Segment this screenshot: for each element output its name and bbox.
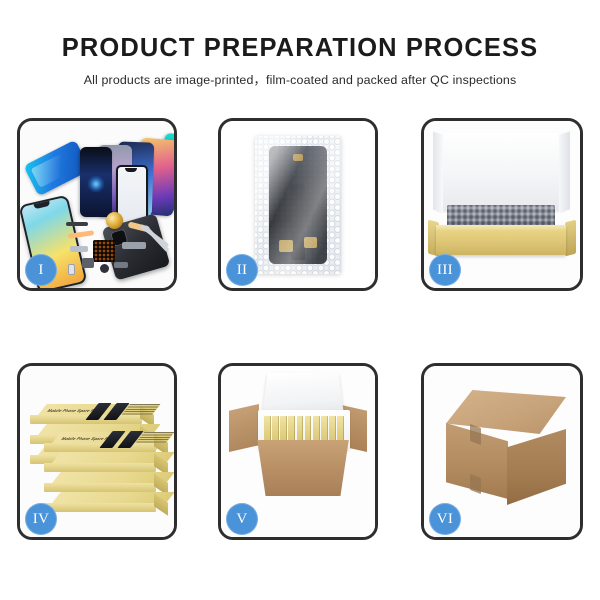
inner-box-slot [288,416,295,444]
inner-box-slot [297,416,304,444]
step-badge-1: I [25,254,57,286]
stacked-box [44,472,170,492]
bracket-part [114,262,128,268]
step-panel-2: II [218,118,378,291]
inner-box-slot [321,416,328,444]
styrofoam-lid [262,373,344,414]
step-badge-6: VI [429,503,461,535]
inner-box-slot [305,416,312,444]
step-badge-3: III [429,254,461,286]
step-badge-2: II [226,254,258,286]
inner-box-slot [329,416,336,444]
inner-box-slot [272,416,279,444]
inner-box-slot [264,416,271,444]
box-flap-right [565,220,576,257]
step-badge-4: IV [25,503,57,535]
step-badge-5: V [226,503,258,535]
camera-lens-part [100,264,109,273]
step-panel-6: VI [421,363,583,540]
small-module [82,258,94,268]
kraft-inner-box [436,225,566,255]
flex-cable-4 [70,246,88,252]
step-panel-4: Mobile Phone Spare Parts Mobile Phone Sp… [17,363,177,540]
yellow-boxes-inside [264,416,344,444]
stacked-box [44,492,170,512]
page-subtitle: All products are image-printed，film-coat… [0,74,600,86]
stacked-box [44,452,170,472]
inner-box-slot [313,416,320,444]
step-panel-3: III [421,118,583,291]
box-print-textblock [136,432,174,443]
stacked-box: Mobile Phone Spare Parts [44,432,170,452]
box-print-textblock [122,404,161,415]
tweezers-icon [132,242,172,282]
step-panel-1: I [17,118,177,291]
white-foam-lid [437,133,565,211]
stacked-boxes-group: Mobile Phone Spare Parts Mobile Phone Sp… [30,386,172,518]
phone-fan-group [72,135,174,221]
header: PRODUCT PREPARATION PROCESS All products… [0,0,600,86]
phone-dark [80,147,112,217]
step-panel-5: V [218,363,378,540]
carton-flap-left [229,404,259,452]
stacked-box: Mobile Phone Spare Parts [30,404,156,424]
flex-cable-1 [68,230,94,239]
ic-chip-grid [93,240,115,262]
product-preparation-infographic: PRODUCT PREPARATION PROCESS All products… [0,0,600,600]
page-title: PRODUCT PREPARATION PROCESS [0,36,600,62]
inner-box-slot [280,416,287,444]
export-carton-body [251,440,355,496]
plastic-sheen [255,136,341,274]
bubble-wrap-package [255,136,341,274]
gold-coil-part [106,212,123,229]
connector-strip [66,222,88,226]
sim-tray-part [68,264,75,275]
inner-box-slot [337,416,344,444]
